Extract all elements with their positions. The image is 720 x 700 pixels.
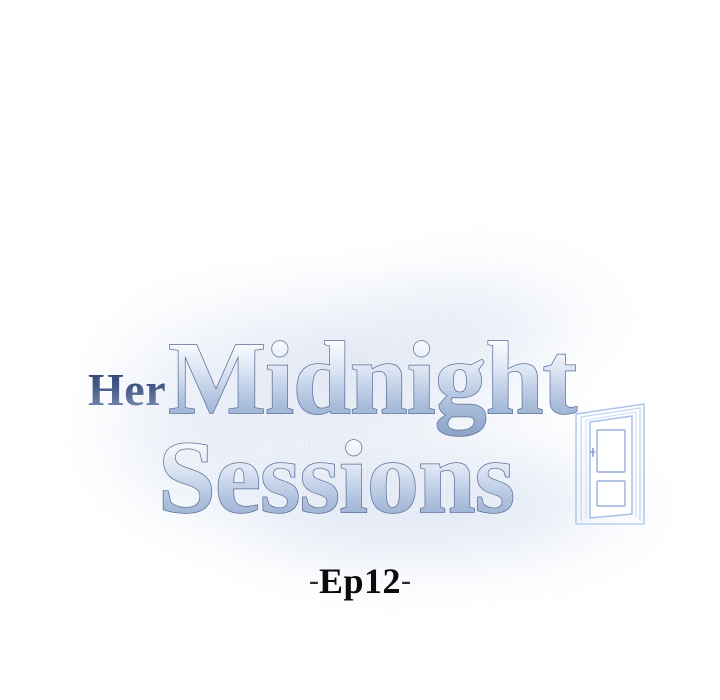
episode-dash-left: - (309, 564, 319, 597)
open-door-illustration (560, 386, 660, 536)
episode-number-text: Ep12 (319, 561, 401, 601)
mist-grain-texture (90, 270, 590, 570)
mist-cloud-upper (95, 285, 565, 460)
episode-label: -Ep12- (0, 560, 720, 602)
episode-dash-right: - (401, 564, 411, 597)
title-line-two: Sessions (158, 420, 514, 535)
title-prefix: Her (88, 364, 166, 415)
mist-cloud-top-right (330, 255, 630, 375)
mist-cloud-lower (140, 420, 560, 560)
title-card-page: Her Midnight Sessions -Ep12- (0, 0, 720, 700)
title-line-one: Midnight (168, 321, 577, 436)
mist-cloud-left (80, 370, 290, 520)
